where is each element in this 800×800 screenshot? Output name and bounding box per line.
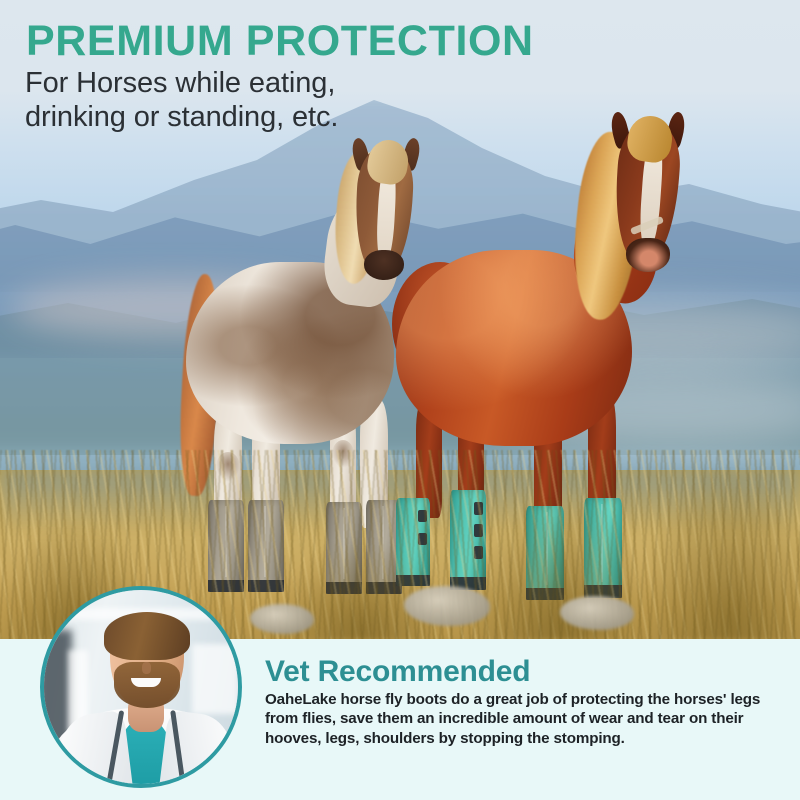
background-panel (192, 644, 238, 714)
subtitle-line-2: drinking or standing, etc. (25, 100, 338, 134)
nose (142, 662, 151, 674)
rock (404, 586, 490, 626)
product-marketing-image: PREMIUM PROTECTION For Horses while eati… (0, 0, 800, 800)
hero-photo: PREMIUM PROTECTION For Horses while eati… (0, 0, 800, 639)
page-title: PREMIUM PROTECTION (26, 20, 534, 63)
horse-muzzle (626, 238, 670, 272)
rock (250, 604, 314, 634)
rock (560, 596, 634, 630)
testimonial-body: OaheLake horse fly boots do a great job … (265, 690, 780, 748)
hair (104, 612, 190, 660)
page-subtitle: For Horses while eating, drinking or sta… (25, 66, 338, 134)
horse-muzzle (364, 250, 404, 280)
subtitle-line-1: For Horses while eating, (25, 66, 338, 100)
testimonial-text-block: Vet Recommended OaheLake horse fly boots… (265, 655, 780, 748)
testimonial-title: Vet Recommended (265, 655, 780, 688)
smile (131, 678, 161, 687)
avatar (40, 586, 242, 788)
grass-clump (640, 470, 800, 639)
